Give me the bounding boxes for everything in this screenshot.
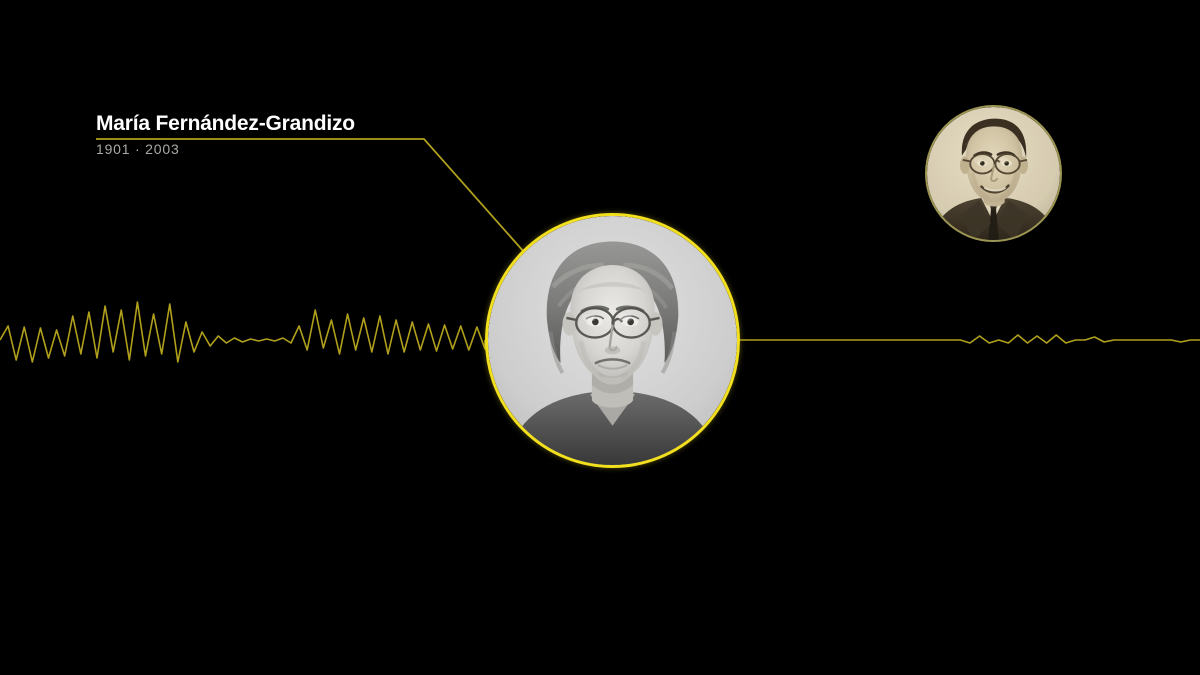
page-title: María Fernández-Grandizo [96,112,456,136]
waveform-right-segment [740,335,1200,343]
callout-dates: 1901 · 2003 [96,140,456,158]
portrait-maria-fernandez-grandizo[interactable] [485,213,740,468]
callout: María Fernández-Grandizo 1901 · 2003 [96,112,456,158]
portrait-secondary-man[interactable] [925,105,1062,242]
portrait-secondary-image [927,107,1060,240]
timeline-scene: María Fernández-Grandizo 1901 · 2003 [0,0,1200,675]
waveform-left-segment [0,302,485,362]
portrait-main-image [488,216,737,465]
